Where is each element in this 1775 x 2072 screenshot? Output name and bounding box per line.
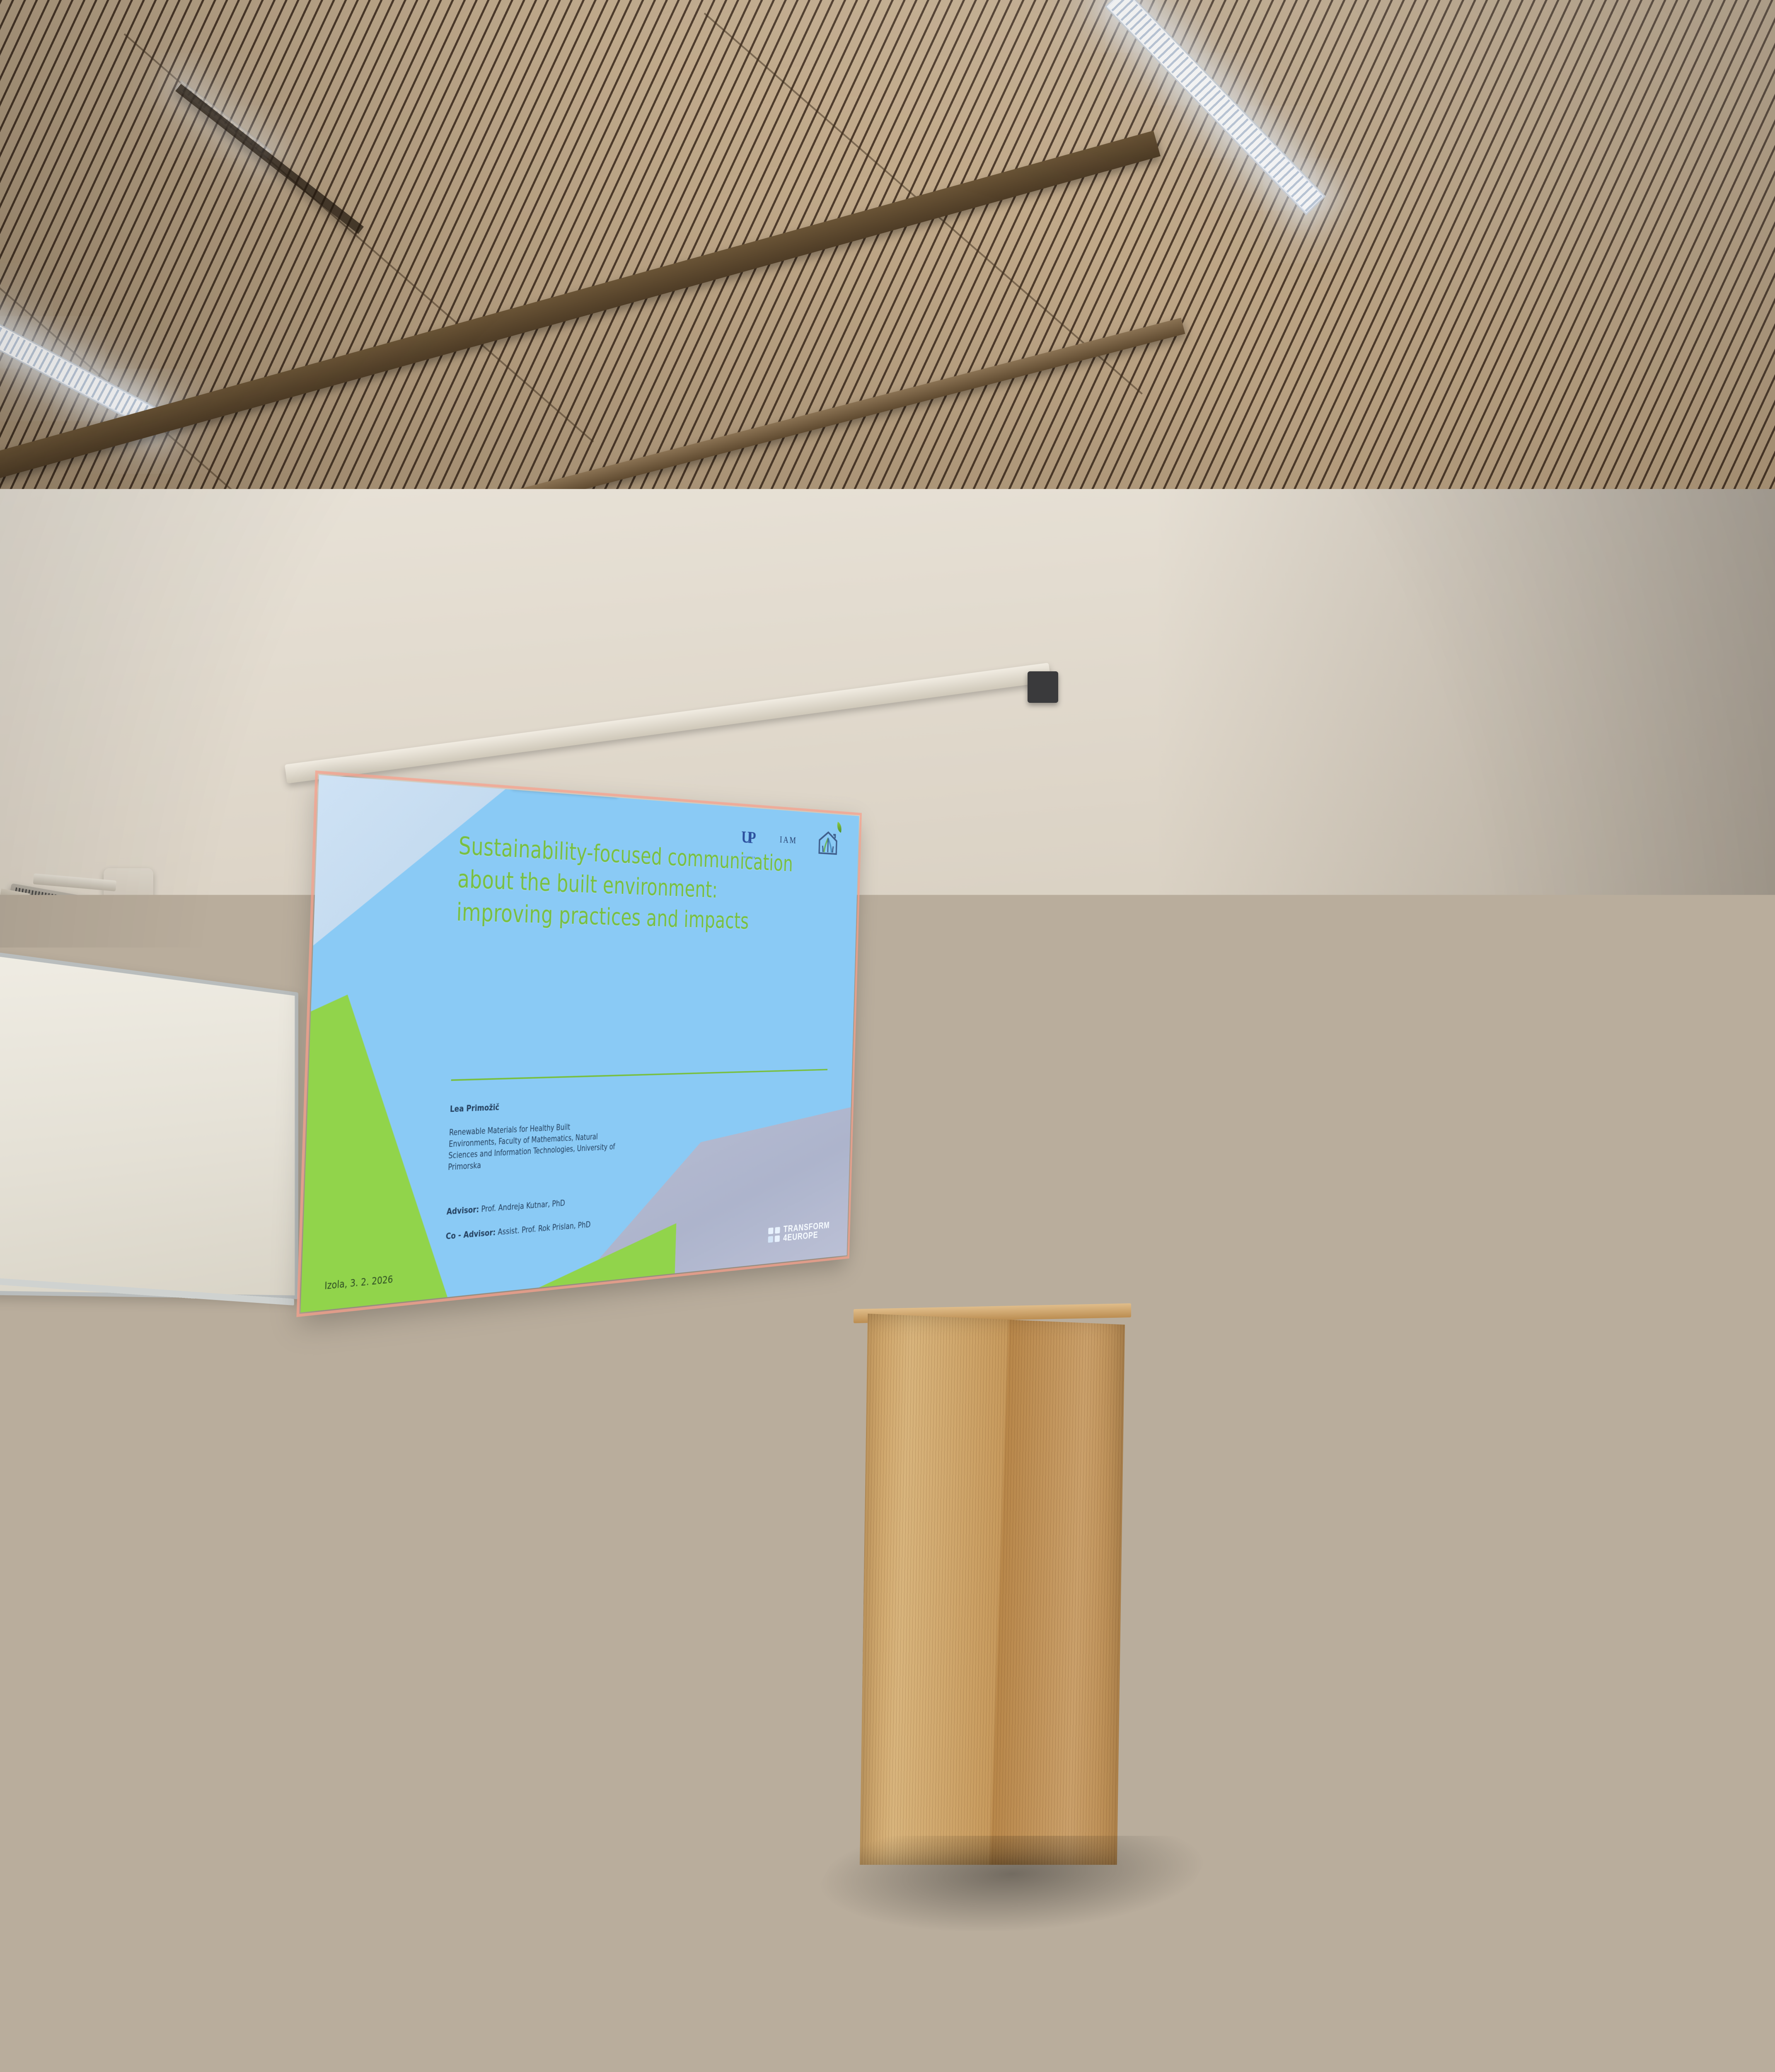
laptop-brand-logo <box>976 1273 990 1278</box>
floor-shading <box>0 1496 1775 2072</box>
wall-socket-white[interactable]: IP44 <box>510 1402 548 1429</box>
chair-screw-hole <box>1475 1427 1481 1433</box>
screen-roller-cap <box>1028 671 1058 703</box>
chair-screw-hole <box>1332 1422 1338 1428</box>
microphone-head <box>1121 1150 1144 1168</box>
innorenew-logo <box>813 823 844 863</box>
lecture-hall-scene: IP44 IP44 IP44 IP44 IP44 IP44 UP UNIVERZ… <box>0 0 1775 2072</box>
wall-socket-white[interactable]: IP44 <box>771 1429 807 1454</box>
wall-socket-white[interactable]: IP44 <box>638 1415 676 1441</box>
coadvisor-name: Assist. Prof. Rok Prislan, PhD <box>498 1220 591 1237</box>
slide-date-place: Izola, 3. 2. 2026 <box>324 1273 393 1292</box>
coadvisor-label: Co - Advisor: <box>445 1227 496 1242</box>
slide-divider-rule <box>451 1069 827 1081</box>
socket-holes <box>641 1419 667 1436</box>
socket-holes <box>710 1426 735 1443</box>
socket-holes <box>513 1407 538 1424</box>
socket-holes <box>581 1413 607 1430</box>
advisor-label: Advisor: <box>446 1205 479 1217</box>
socket-holes <box>454 1399 481 1417</box>
four-squares-icon <box>768 1227 780 1243</box>
advisor-name: Prof. Andreja Kutnar, PhD <box>481 1198 565 1214</box>
wall-socket-green[interactable]: IP44 <box>451 1395 491 1422</box>
wall-socket-green[interactable]: IP44 <box>707 1422 744 1448</box>
whiteboard[interactable] <box>0 947 298 1299</box>
wall-socket-green[interactable]: IP44 <box>578 1409 616 1435</box>
transform4europe-logo: TRANSFORM 4EUROPE <box>768 1221 830 1244</box>
parquet-floor <box>0 1496 1775 2072</box>
slide-affiliation: Renewable Materials for Healthy Built En… <box>448 1116 692 1173</box>
presentation-slide: UP UNIVERZA IAM <box>300 775 859 1312</box>
socket-holes <box>774 1433 798 1450</box>
house-icon <box>818 830 838 855</box>
projection-screen[interactable]: UP UNIVERZA IAM <box>300 775 859 1312</box>
projector-wall-plate <box>104 868 153 930</box>
slide-author-name: Lea Primožič <box>450 1094 733 1114</box>
chair-backrest <box>1322 1401 1496 1450</box>
